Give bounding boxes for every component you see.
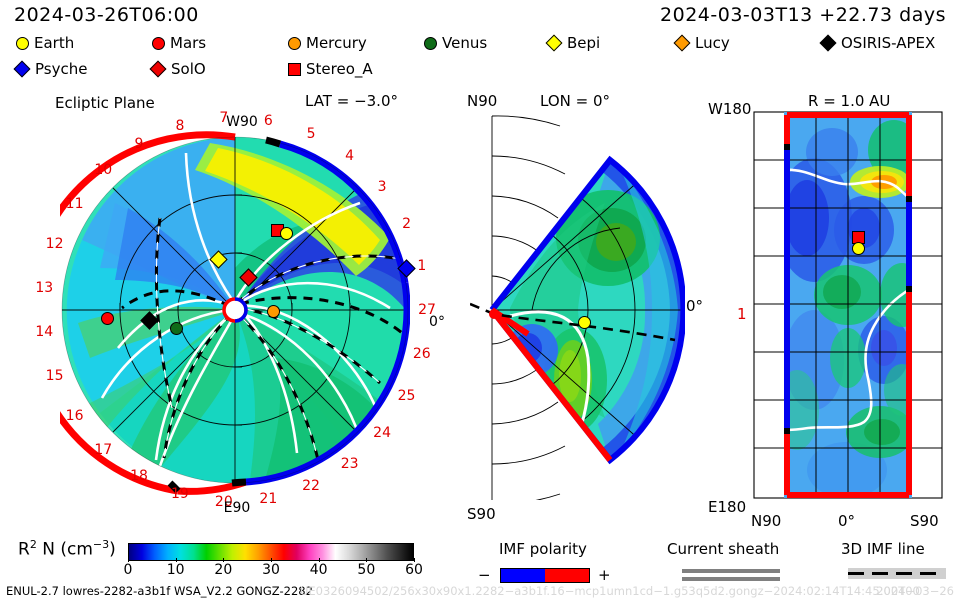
rau-svg: [752, 110, 944, 500]
colorbar-tick-20: 20: [214, 562, 232, 578]
circle-marker-icon: [424, 37, 437, 50]
legend-body-mars: Mars: [152, 34, 206, 52]
diamond-marker-icon: [150, 61, 167, 78]
diamond-marker-icon: [820, 35, 837, 52]
rau-x-label-n90: N90: [751, 512, 781, 530]
ecliptic-day-tick-15: 15: [46, 368, 64, 384]
colorbar-ticks: 0102030405060: [128, 562, 414, 580]
legend-body-label: Mercury: [306, 34, 367, 52]
colorbar-label-rest: N (cm: [42, 540, 93, 560]
ecliptic-day-tick-23: 23: [341, 456, 359, 472]
meridional-zero-label: 0°: [686, 297, 703, 315]
ecliptic-day-tick-19: 19: [171, 486, 189, 502]
colorbar-label-exp: 2: [30, 538, 37, 551]
imf-3d-line-swatch: [848, 568, 946, 579]
marker-earth: [578, 316, 591, 329]
circle-marker-icon: [288, 37, 301, 50]
legend-body-label: OSIRIS-APEX: [841, 34, 935, 52]
legend-body-earth: Earth: [16, 34, 74, 52]
footer-model-info: ENUL-2.7 lowres-2282-a3b1f WSA_V2.2 GONG…: [6, 584, 313, 598]
meridional-svg: [470, 108, 685, 500]
wsa-enlil-solar-wind-visualization: 2024-03-26T06:00 2024-03-03T13 +22.73 da…: [0, 0, 960, 600]
rau-panel-title: R = 1.0 AU: [808, 92, 890, 110]
imf-polarity-plus: +: [598, 566, 611, 584]
legend-body-venus: Venus: [424, 34, 487, 52]
colorbar-tickmark-40: [319, 558, 320, 562]
legend-body-label: Mars: [170, 34, 206, 52]
legend-body-mercury: Mercury: [288, 34, 367, 52]
meridional-south-label: S90: [467, 505, 496, 523]
marker-earth: [280, 227, 293, 240]
ecliptic-day-tick-12: 12: [46, 236, 64, 252]
diamond-marker-icon: [674, 35, 691, 52]
legend-body-label: Psyche: [35, 60, 87, 78]
colorbar-tick-60: 60: [405, 562, 423, 578]
legend-body-stereo-a: Stereo_A: [288, 60, 373, 78]
marker-mercury: [267, 305, 280, 318]
colorbar-tickmark-50: [366, 558, 367, 562]
ecliptic-day-tick-9: 9: [135, 136, 144, 152]
current-sheath-line-upper: [682, 569, 780, 573]
colorbar-tickmark-60: [414, 558, 415, 562]
colorbar-tick-10: 10: [167, 562, 185, 578]
ecliptic-day-tick-25: 25: [398, 388, 416, 404]
rau-y-tick-label: 1: [737, 305, 747, 323]
square-marker-icon: [288, 63, 301, 76]
colorbar-label-r: R: [18, 540, 30, 560]
current-sheath-line-lower: [682, 577, 780, 581]
imf-polarity-title: IMF polarity: [499, 540, 587, 558]
legend-body-bepi: Bepi: [548, 34, 600, 52]
ecliptic-day-tick-24: 24: [373, 425, 391, 441]
ecliptic-svg: [60, 108, 410, 500]
ecliptic-zero-label: 0°: [429, 314, 445, 330]
diamond-marker-icon: [546, 35, 563, 52]
legend-body-solo: SolO: [152, 60, 206, 78]
circle-marker-icon: [16, 37, 29, 50]
ecliptic-e90-label: E90: [224, 500, 251, 516]
rau-e180-label: E180: [708, 498, 746, 516]
ecliptic-day-tick-4: 4: [345, 148, 354, 164]
ecliptic-day-tick-11: 11: [66, 196, 84, 212]
colorbar-label-unit-exp: −3: [93, 538, 109, 551]
circle-marker-icon: [152, 37, 165, 50]
footer-watermark: UE0326094502/256x30x90x1.2282−a3b1f.16−m…: [300, 584, 920, 598]
footer-watermark-date: 2024−03−26: [876, 584, 954, 598]
colorbar-tickmark-30: [271, 558, 272, 562]
legend-body-lucy: Lucy: [676, 34, 730, 52]
colorbar-label-close: ): [109, 540, 116, 560]
rau-w180-label: W180: [708, 100, 751, 118]
ecliptic-day-tick-14: 14: [35, 324, 53, 340]
ecliptic-day-tick-2: 2: [402, 216, 411, 232]
ecliptic-day-tick-5: 5: [307, 126, 316, 142]
legend-body-label: Earth: [34, 34, 74, 52]
imf-polarity-minus: −: [478, 566, 491, 584]
ecliptic-day-tick-18: 18: [130, 468, 148, 484]
legend-body-label: Lucy: [695, 34, 730, 52]
marker-mars: [101, 312, 114, 325]
legend-body-psyche: Psyche: [16, 60, 87, 78]
ecliptic-day-tick-1: 1: [417, 258, 426, 274]
colorbar-tick-40: 40: [310, 562, 328, 578]
current-timestamp: 2024-03-26T06:00: [14, 4, 199, 26]
legend-body-osiris-apex: OSIRIS-APEX: [822, 34, 935, 52]
ecliptic-day-tick-26: 26: [413, 346, 431, 362]
imf-3d-line-title: 3D IMF line: [841, 540, 925, 558]
colorbar-tickmark-0: [128, 558, 129, 562]
ecliptic-day-tick-17: 17: [94, 442, 112, 458]
ecliptic-plane-plot: 1234567891011121314151617181920212223242…: [60, 108, 410, 500]
legend-body-label: SolO: [171, 60, 206, 78]
colorbar-tick-50: 50: [357, 562, 375, 578]
colorbar-tick-30: 30: [262, 562, 280, 578]
legend-body-label: Stereo_A: [306, 60, 373, 78]
imf-polarity-negative-swatch: [501, 569, 545, 582]
meridional-plot: [470, 108, 685, 500]
current-sheath-title: Current sheath: [667, 540, 779, 558]
r1au-synoptic-map: [752, 110, 944, 500]
rau-x-label-zero: 0°: [838, 512, 855, 530]
ecliptic-day-tick-6: 6: [264, 113, 273, 129]
run-start-timestamp: 2024-03-03T13 +22.73 days: [660, 4, 946, 26]
ecliptic-day-tick-16: 16: [66, 408, 84, 424]
colorbar-label: R2 N (cm−3): [18, 538, 116, 560]
marker-earth: [852, 242, 865, 255]
imf-polarity-positive-swatch: [545, 569, 589, 582]
diamond-marker-icon: [14, 61, 31, 78]
ecliptic-day-tick-13: 13: [35, 280, 53, 296]
ecliptic-w90-label: W90: [226, 114, 258, 130]
bodies-legend: EarthMarsMercuryVenusBepiLucyOSIRIS-APEX…: [10, 34, 952, 86]
ecliptic-day-tick-8: 8: [175, 118, 184, 134]
marker-venus: [170, 322, 183, 335]
rau-x-label-s90: S90: [910, 512, 939, 530]
ecliptic-day-tick-22: 22: [302, 478, 320, 494]
colorbar-tickmark-10: [176, 558, 177, 562]
ecliptic-day-tick-3: 3: [378, 179, 387, 195]
legend-body-label: Bepi: [567, 34, 600, 52]
ecliptic-day-tick-21: 21: [259, 491, 277, 507]
ecliptic-day-tick-10: 10: [94, 162, 112, 178]
imf-polarity-bar: [500, 568, 590, 583]
colorbar-tickmark-20: [223, 558, 224, 562]
legend-body-label: Venus: [442, 34, 487, 52]
colorbar-tick-0: 0: [124, 562, 133, 578]
